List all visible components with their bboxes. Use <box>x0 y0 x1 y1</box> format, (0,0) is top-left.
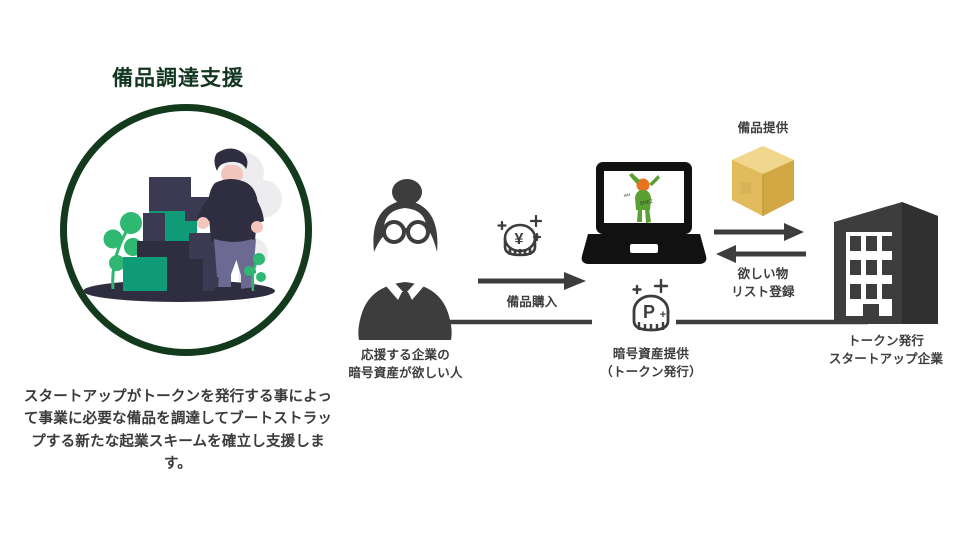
yen-symbol: ¥ <box>515 231 524 248</box>
edge-wishlist-label: 欲しい物 リスト登録 <box>706 266 820 301</box>
edge-token: P + 暗号資産提供 （トークン発行） <box>618 280 684 342</box>
node-startup: トークン発行 スタートアップ企業 <box>830 198 942 328</box>
token-equipment-flow-diagram: 応援する企業の 暗号資産が欲しい人 ¥ <box>340 120 960 420</box>
node-startup-label: トークン発行 スタートアップ企業 <box>808 332 960 368</box>
token-plus-icon: + <box>660 309 666 321</box>
page-title: 備品調達支援 <box>18 62 338 92</box>
laptop-icon[interactable]: ιυυ SNEZ <box>582 162 706 270</box>
edge-supply-label: 備品提供 <box>708 120 818 138</box>
slide-canvas: 備品調達支援 <box>0 0 960 540</box>
node-platform[interactable]: ιυυ SNEZ <box>582 162 706 270</box>
cardboard-box-icon <box>724 142 802 220</box>
node-buyer-label: 応援する企業の 暗号資産が欲しい人 <box>328 346 483 382</box>
arrow-right-purchase <box>478 270 588 292</box>
panel-caption: スタートアップがトークンを発行する事によって事業に必要な備品を調達してブートスト… <box>22 386 334 476</box>
token-coin-icon: P + <box>618 280 684 342</box>
office-building-icon <box>830 198 942 328</box>
edge-purchase-label: 備品購入 <box>470 294 594 312</box>
illustration-circle <box>60 104 312 356</box>
edge-token-label: 暗号資産提供 （トークン発行） <box>568 346 734 381</box>
token-symbol: P <box>643 302 655 322</box>
equipment-support-panel: 備品調達支援 <box>18 62 338 492</box>
arrow-right-supply <box>714 222 806 242</box>
edge-purchase: ¥ 備品購入 <box>492 212 548 264</box>
yen-coin-icon: ¥ <box>492 212 548 264</box>
person-stacking-boxes-illustration <box>67 111 291 335</box>
arrow-left-wishlist <box>714 244 806 264</box>
